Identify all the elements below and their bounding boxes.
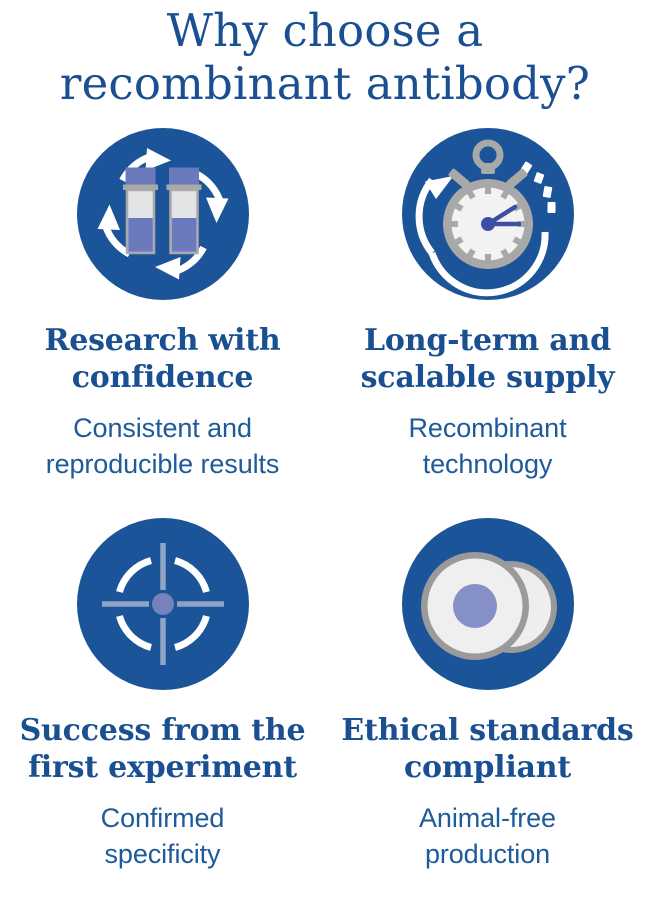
benefits-grid: Research with confidence Consistent and … (0, 118, 650, 898)
benefit-heading-line-1: Research with (44, 322, 280, 359)
benefit-card-research-with-confidence: Research with confidence Consistent and … (0, 118, 325, 508)
benefit-subtitle: Recombinant technology (409, 410, 567, 482)
benefit-heading-line-2: first experiment (20, 749, 306, 786)
benefit-subtitle-line-1: Consistent and (46, 410, 280, 446)
benefit-subtitle-line-2: technology (409, 446, 567, 482)
benefit-heading: Success from the first experiment (20, 712, 306, 786)
benefit-subtitle-line-1: Animal-free (419, 800, 556, 836)
benefit-subtitle-line-2: specificity (101, 836, 225, 872)
benefit-card-success-first-experiment: Success from the first experiment Confir… (0, 508, 325, 898)
page-title-line-2: recombinant antibody? (0, 57, 650, 110)
benefit-heading-line-1: Ethical standards (341, 712, 633, 749)
benefit-subtitle-line-2: reproducible results (46, 446, 280, 482)
benefit-heading-line-2: confidence (44, 359, 280, 396)
benefit-subtitle: Confirmed specificity (101, 800, 225, 872)
crosshair-target-icon (77, 518, 249, 690)
infographic-root: Why choose a recombinant antibody? (0, 0, 650, 889)
benefit-card-long-term-scalable-supply: Long-term and scalable supply Recombinan… (325, 118, 650, 508)
benefit-heading-line-1: Long-term and (361, 322, 615, 359)
benefit-heading: Long-term and scalable supply (361, 322, 615, 396)
benefit-heading-line-2: compliant (341, 749, 633, 786)
stopwatch-icon (402, 128, 574, 300)
benefit-card-ethical-standards-compliant: Ethical standards compliant Animal-free … (325, 508, 650, 898)
benefit-subtitle-line-2: production (419, 836, 556, 872)
benefit-heading-line-2: scalable supply (361, 359, 615, 396)
vials-recycle-icon (77, 128, 249, 300)
two-cells-icon (402, 518, 574, 690)
benefit-subtitle-line-1: Recombinant (409, 410, 567, 446)
page-title: Why choose a recombinant antibody? (0, 0, 650, 110)
benefit-subtitle: Animal-free production (419, 800, 556, 872)
page-title-line-1: Why choose a (0, 4, 650, 57)
benefit-heading: Research with confidence (44, 322, 280, 396)
benefit-subtitle-line-1: Confirmed (101, 800, 225, 836)
benefit-heading: Ethical standards compliant (341, 712, 633, 786)
benefit-subtitle: Consistent and reproducible results (46, 410, 280, 482)
benefit-heading-line-1: Success from the (20, 712, 306, 749)
